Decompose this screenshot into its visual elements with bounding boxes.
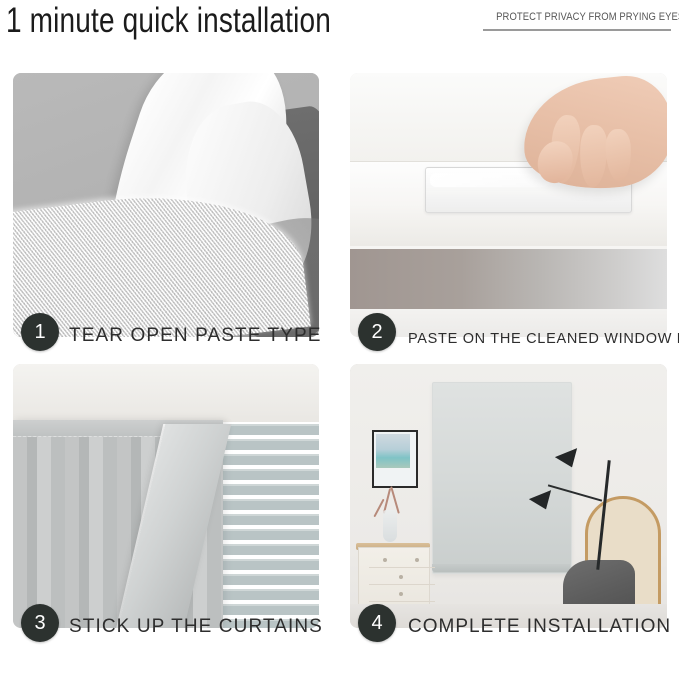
drawer-knob (415, 558, 419, 562)
step-caption: TEAR OPEN PASTE TYPE (69, 321, 322, 351)
dresser-drawer (369, 552, 435, 568)
steps-grid: 1 TEAR OPEN PASTE TYPE 2 PASTE ON THE CL… (0, 66, 679, 684)
blind-bottom-hem (432, 564, 570, 572)
glass-vase (383, 510, 397, 542)
step-2-photo (350, 73, 667, 337)
page-title: 1 minute quick installation (6, 0, 331, 44)
tagline-block: PROTECT PRIVACY FROM PRYING EYES (483, 10, 671, 31)
dresser-drawer (369, 586, 435, 602)
step-caption: COMPLETE INSTALLATION (408, 612, 671, 642)
step-1-photo (13, 73, 319, 337)
drawer-knob (399, 592, 403, 596)
step-number-badge: 4 (358, 604, 396, 642)
step-caption: STICK UP THE CURTAINS (69, 612, 323, 642)
step-3-caption-row: 3 STICK UP THE CURTAINS (13, 612, 319, 656)
step-card-2: 2 PASTE ON THE CLEANED WINDOW FRAME (350, 73, 667, 365)
artwork-image (376, 434, 410, 468)
step-card-1: 1 TEAR OPEN PASTE TYPE (13, 73, 319, 365)
step-number-badge: 1 (21, 313, 59, 351)
step-card-3: 3 STICK UP THE CURTAINS (13, 364, 319, 656)
step-1-caption-row: 1 TEAR OPEN PASTE TYPE (13, 321, 319, 365)
tape-gloss-highlight (430, 173, 550, 187)
dresser-drawer (369, 569, 435, 585)
page-header: 1 minute quick installation PROTECT PRIV… (0, 0, 679, 62)
wall-shadow-band (350, 249, 667, 309)
framed-picture (372, 430, 418, 488)
step-card-4: 4 COMPLETE INSTALLATION (350, 364, 667, 656)
step-number-badge: 2 (358, 313, 396, 351)
step-caption: PASTE ON THE CLEANED WINDOW FRAME (408, 324, 679, 354)
step-2-caption-row: 2 PASTE ON THE CLEANED WINDOW FRAME (350, 321, 667, 365)
drawer-knob (383, 558, 387, 562)
tagline-divider (483, 29, 671, 31)
step-number-badge: 3 (21, 604, 59, 642)
installed-blackout-blind (432, 382, 572, 574)
step-3-photo (13, 364, 319, 628)
step-4-caption-row: 4 COMPLETE INSTALLATION (350, 612, 667, 656)
step-4-photo (350, 364, 667, 628)
ceiling (13, 364, 319, 424)
drawer-knob (399, 575, 403, 579)
tagline-text: PROTECT PRIVACY FROM PRYING EYES (496, 10, 658, 24)
